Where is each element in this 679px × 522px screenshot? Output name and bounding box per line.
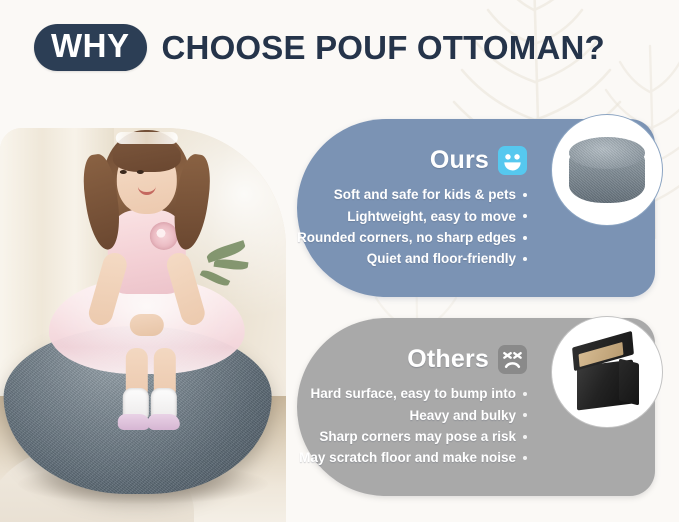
bullet-dot-icon — [523, 257, 527, 261]
list-item: May scratch floor and make noise — [297, 447, 527, 468]
list-item-text: Lightweight, easy to move — [347, 206, 516, 227]
why-badge: WHY — [34, 24, 147, 71]
box-side — [619, 359, 639, 406]
panel-title-ours: Ours — [430, 146, 489, 175]
product-thumbnail-ours — [555, 118, 659, 222]
list-item: Rounded corners, no sharp edges — [297, 227, 527, 248]
bullet-dot-icon — [523, 413, 527, 417]
bullet-dot-icon — [523, 456, 527, 460]
storage-ottoman-box-icon — [567, 337, 647, 407]
list-item-text: Heavy and bulky — [409, 405, 516, 426]
benefit-list-ours: Soft and safe for kids & pets Lightweigh… — [297, 184, 527, 269]
dress-flower — [150, 222, 178, 250]
bullet-dot-icon — [523, 236, 527, 240]
panel-header-others: Others — [297, 345, 527, 374]
page-title: CHOOSE POUF OTTOMAN? — [162, 29, 605, 67]
list-item-text: Sharp corners may pose a risk — [319, 426, 516, 447]
shoe-left — [118, 414, 150, 430]
shoe-right — [148, 414, 180, 430]
list-item: Sharp corners may pose a risk — [297, 426, 527, 447]
lifestyle-photo — [0, 128, 286, 522]
bullet-dot-icon — [523, 435, 527, 439]
smiling-face-icon — [498, 146, 527, 175]
bullet-dot-icon — [523, 214, 527, 218]
list-item-text: Hard surface, easy to bump into — [310, 383, 516, 404]
headband — [116, 132, 178, 144]
pouf-top — [569, 137, 645, 169]
header: WHY CHOOSE POUF OTTOMAN? — [0, 0, 679, 95]
list-item-text: Quiet and floor-friendly — [367, 248, 516, 269]
product-thumbnail-others — [555, 320, 659, 424]
panel-title-others: Others — [407, 345, 489, 374]
list-item: Lightweight, easy to move — [297, 206, 527, 227]
list-item: Hard surface, easy to bump into — [297, 383, 527, 404]
eye-left — [120, 170, 127, 174]
list-item: Heavy and bulky — [297, 405, 527, 426]
confounded-face-icon — [498, 345, 527, 374]
infographic-root: WHY CHOOSE POUF OTTOMAN? — [0, 0, 679, 522]
eye-right — [137, 170, 144, 174]
bullet-dot-icon — [523, 392, 527, 396]
child-model — [52, 128, 242, 426]
list-item: Soft and safe for kids & pets — [297, 184, 527, 205]
list-item-text: Rounded corners, no sharp edges — [297, 227, 516, 248]
panel-header-ours: Ours — [297, 146, 527, 175]
list-item-text: May scratch floor and make noise — [299, 447, 516, 468]
hands — [130, 314, 164, 336]
pouf-ottoman-icon — [569, 137, 645, 203]
photo-scene — [0, 128, 286, 522]
bullet-dot-icon — [523, 193, 527, 197]
list-item-text: Soft and safe for kids & pets — [334, 184, 516, 205]
list-item: Quiet and floor-friendly — [297, 248, 527, 269]
drawback-list-others: Hard surface, easy to bump into Heavy an… — [297, 383, 527, 468]
